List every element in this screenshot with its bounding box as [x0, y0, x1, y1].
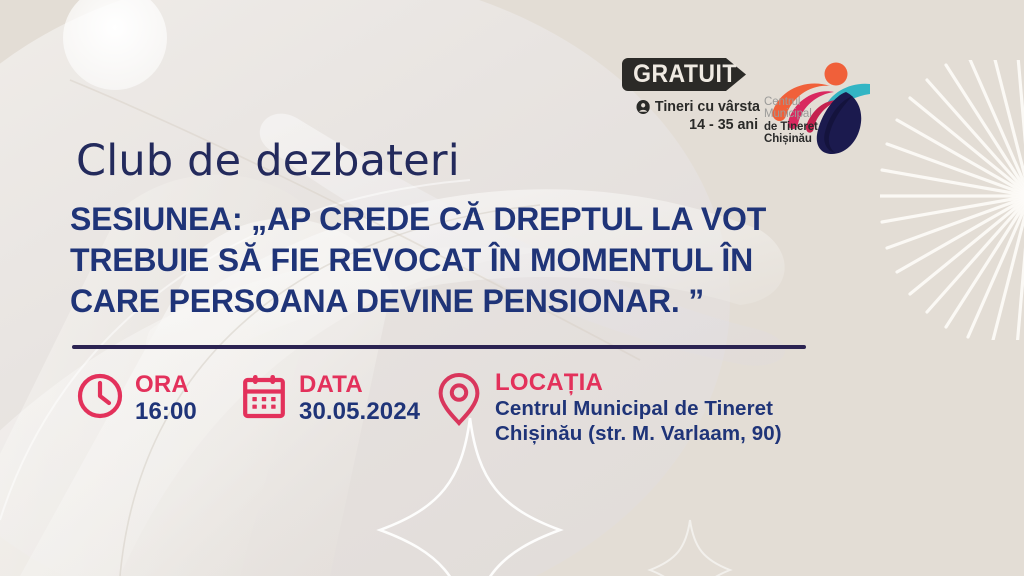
sparkle-decoration-small — [650, 520, 730, 576]
logo-line-2: Municipal — [764, 108, 832, 120]
organization-logo: Centrul Municipal de Tineret Chișinău — [758, 56, 876, 160]
gratuit-tag: GRATUIT — [622, 58, 748, 91]
page-title: SESIUNEA: „AP CREDE CĂ DREPTUL LA VOT TR… — [70, 199, 860, 322]
gratuit-label: GRATUIT — [627, 58, 743, 91]
time-value: 16:00 — [135, 398, 197, 426]
date-label: DATA — [299, 372, 420, 398]
date-value: 30.05.2024 — [299, 398, 420, 426]
event-time-item: ORA 16:00 — [76, 372, 197, 426]
event-details: ORA 16:00 — [72, 368, 972, 458]
logo-line-4: Chișinău — [764, 133, 832, 145]
location-line-2: Chișinău (str. M. Varlaam, 90) — [495, 421, 782, 446]
page-subtitle: Club de dezbateri — [76, 136, 460, 186]
person-icon — [637, 100, 650, 114]
audience-line-2: 14 - 35 ani — [629, 116, 760, 134]
logo-line-1: Centrul — [764, 96, 832, 108]
audience-line-1: Tineri cu vârsta — [655, 98, 760, 116]
headline-line-2: TREBUIE SĂ FIE REVOCAT ÎN MOMENTUL ÎN — [70, 240, 860, 281]
audience-note: Tineri cu vârsta 14 - 35 ani — [629, 98, 760, 135]
time-label: ORA — [135, 372, 197, 398]
headline-line-1: SESIUNEA: „AP CREDE CĂ DREPTUL LA VOT — [70, 199, 860, 240]
location-label: LOCAȚIA — [495, 370, 782, 396]
event-location-item: LOCAȚIA Centrul Municipal de Tineret Chi… — [434, 370, 782, 446]
divider — [72, 345, 806, 349]
logo-text: Centrul Municipal de Tineret Chișinău — [764, 96, 832, 145]
event-poster: Club de dezbateri SESIUNEA: „AP CREDE CĂ… — [0, 0, 1024, 576]
calendar-icon — [240, 372, 288, 425]
clock-icon — [76, 372, 124, 425]
free-admission-badge: GRATUIT Tineri cu vârsta 14 - 35 ani — [622, 58, 772, 135]
headline-line-3: CARE PERSOANA DEVINE PENSIONAR. ” — [70, 281, 860, 322]
logo-line-3: de Tineret — [764, 121, 832, 133]
location-line-1: Centrul Municipal de Tineret — [495, 396, 782, 421]
map-pin-icon — [434, 370, 484, 433]
sunburst-decoration — [880, 45, 1024, 347]
event-date-item: DATA 30.05.2024 — [240, 372, 420, 426]
